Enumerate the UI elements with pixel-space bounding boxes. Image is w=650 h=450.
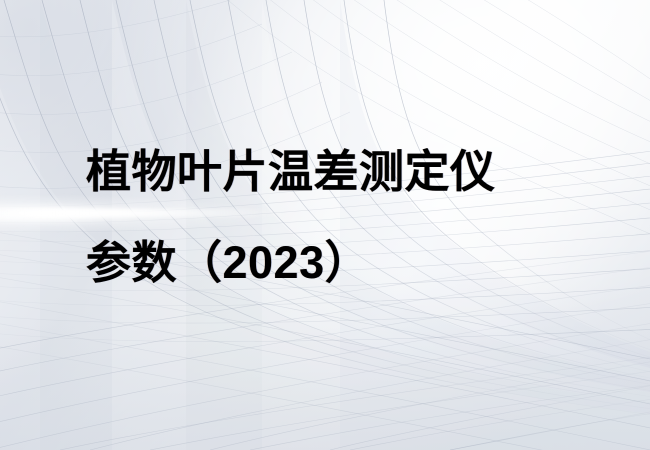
slide-title-line-2: 参数（2023） — [86, 217, 606, 308]
title-slide: 植物叶片温差测定仪 参数（2023） — [0, 0, 650, 450]
slide-title-block: 植物叶片温差测定仪 参数（2023） — [86, 126, 606, 308]
slide-title-line-1: 植物叶片温差测定仪 — [86, 126, 606, 217]
